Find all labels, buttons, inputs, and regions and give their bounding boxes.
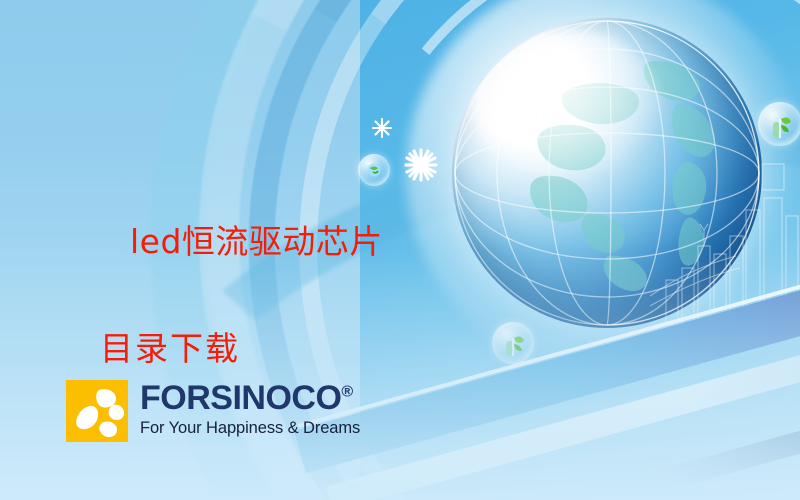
bubble-leaf-right xyxy=(758,102,800,146)
headline-line-2: 目录下载 xyxy=(86,322,416,375)
logo-company-name: FORSINOCO® xyxy=(140,382,360,415)
headline-line-1: led恒流驱动芯片 xyxy=(130,222,383,261)
logo-text-block: FORSINOCO® For Your Happiness & Dreams xyxy=(140,380,360,438)
leaf-sprout-right-icon xyxy=(758,102,800,146)
company-logo: FORSINOCO® For Your Happiness & Dreams xyxy=(66,380,360,442)
logo-tagline: For Your Happiness & Dreams xyxy=(140,419,360,438)
logo-company-name-text: FORSINOCO xyxy=(140,379,341,417)
pinwheel-petals-icon xyxy=(66,380,128,442)
promo-banner: led恒流驱动芯片 目录下载 FORSINOCO® For Your Happi… xyxy=(0,0,800,500)
registered-trademark-mark: ® xyxy=(341,384,352,401)
globe-specular-highlight xyxy=(471,30,663,179)
sparkle-small-icon xyxy=(372,118,392,138)
logo-mark-tile xyxy=(66,380,128,442)
